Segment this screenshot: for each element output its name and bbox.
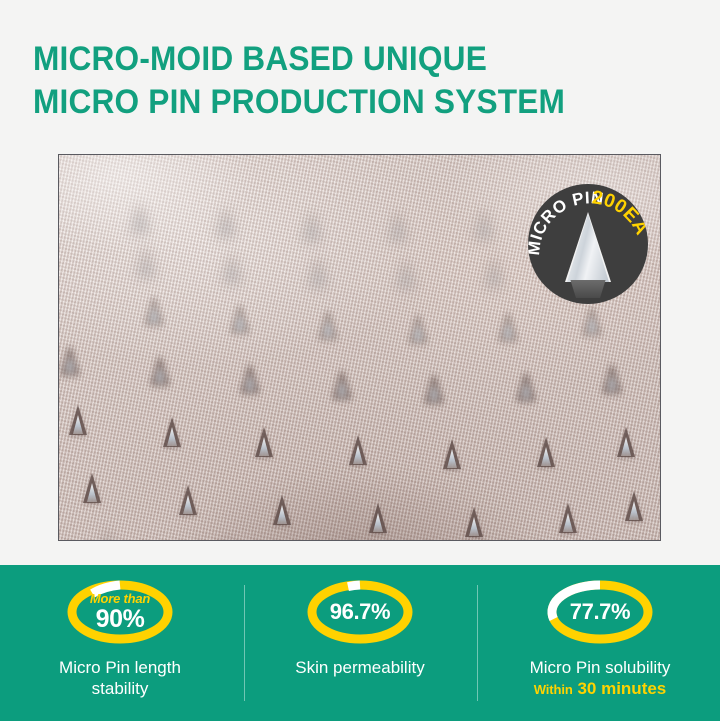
stats-band: More than 90% Micro Pin length stability… <box>0 565 720 721</box>
page-title-line-2: MICRO PIN PRODUCTION SYSTEM <box>33 81 638 124</box>
stat-micro-pin-solubility: 77.7% Micro Pin solubility Within 30 min… <box>480 565 720 721</box>
micro-pin-count-badge: MICRO PIN 200EA <box>528 184 648 304</box>
stat-3-sublabel: Within 30 minutes <box>534 679 667 700</box>
stat-3-label: Micro Pin solubility <box>530 657 671 678</box>
stat-micro-pin-length-stability: More than 90% Micro Pin length stability <box>0 565 240 721</box>
stat-2-ring: 96.7% <box>304 579 416 645</box>
stat-3-ring: 77.7% <box>544 579 656 645</box>
page-title-line-1: MICRO-MOID BASED UNIQUE <box>33 38 638 81</box>
stat-3-sublabel-prefix: Within <box>534 682 573 697</box>
page-title: MICRO-MOID BASED UNIQUE MICRO PIN PRODUC… <box>33 38 638 124</box>
svg-text:200EA: 200EA <box>591 187 648 238</box>
stat-skin-permeability: 96.7% Skin permeability <box>240 565 480 721</box>
badge-arc-text: MICRO PIN 200EA <box>528 184 648 304</box>
stat-2-label: Skin permeability <box>295 657 424 678</box>
stat-3-sublabel-value: 30 minutes <box>577 679 666 698</box>
stat-1-label: Micro Pin length stability <box>30 657 210 699</box>
stat-1-prefix: More than <box>90 592 150 605</box>
stat-1-value: 90% <box>96 606 145 632</box>
infographic-page: MICRO-MOID BASED UNIQUE MICRO PIN PRODUC… <box>0 0 720 721</box>
stat-1-ring: More than 90% <box>64 579 176 645</box>
stat-2-value: 96.7% <box>330 599 390 625</box>
stat-3-value: 77.7% <box>570 599 630 625</box>
badge-arc-label-yellow: 200EA <box>591 187 648 238</box>
